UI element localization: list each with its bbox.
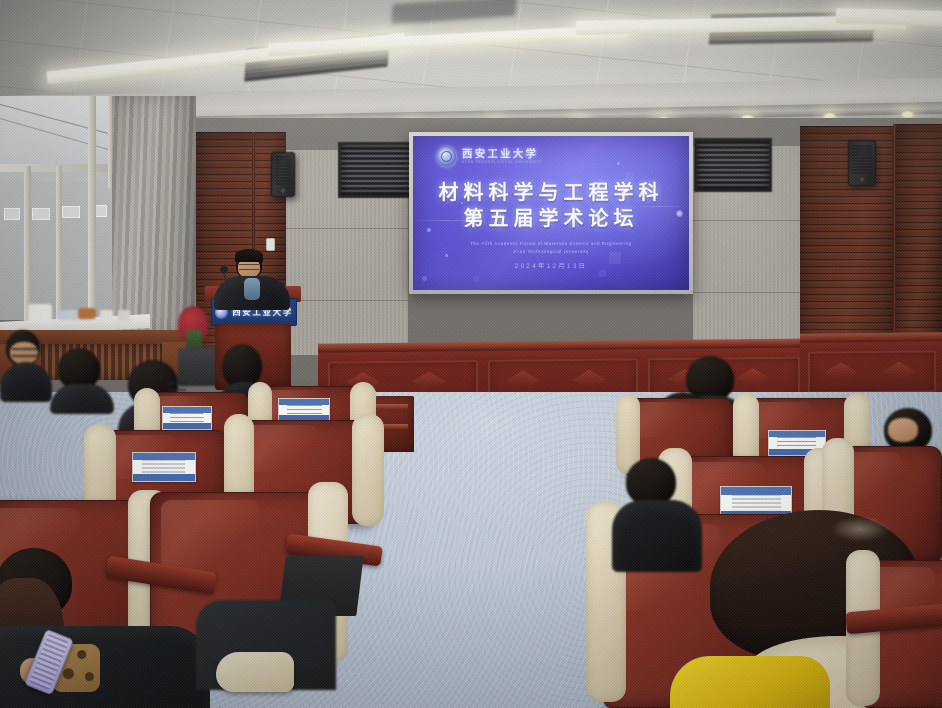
presenter xyxy=(214,250,290,306)
sill-items xyxy=(28,304,52,322)
presenter-hair xyxy=(235,249,263,262)
window-curtain xyxy=(112,96,196,338)
sill-items xyxy=(78,308,96,319)
glasses-icon xyxy=(239,264,259,270)
seat-name-card xyxy=(162,406,212,430)
screen-university-name-cn: 西安工业大学 xyxy=(462,149,543,160)
window-mullion xyxy=(56,166,62,324)
wall-air-vent xyxy=(338,142,416,198)
glasses-icon xyxy=(12,348,38,357)
diamond-ornament xyxy=(572,370,606,390)
wall-air-vent xyxy=(694,138,772,192)
exterior-building-wall xyxy=(0,182,124,320)
diamond-ornament xyxy=(506,370,540,390)
diamond-ornament xyxy=(412,371,446,391)
stage-panel xyxy=(808,350,936,393)
sill-cup xyxy=(100,310,113,322)
wood-panel-divider xyxy=(893,124,896,352)
window-mullion xyxy=(88,96,96,326)
screen-title: 材料科学与工程学科 第五届学术论坛 xyxy=(413,180,689,233)
seat-name-card xyxy=(278,398,330,422)
sill-cup xyxy=(118,310,130,321)
window-mullion xyxy=(24,166,31,324)
projection-screen-frame: 西安工业大学 XI'AN TECHNOLOGICAL UNIVERSITY 材料… xyxy=(409,132,693,294)
projection-screen: 西安工业大学 XI'AN TECHNOLOGICAL UNIVERSITY 材料… xyxy=(413,136,689,290)
yellow-jacket xyxy=(670,656,830,708)
conference-hall-photo: 西安工业大学 XI'AN TECHNOLOGICAL UNIVERSITY 材料… xyxy=(0,0,942,708)
screen-subtitle-en-line1: The Fifth Academic Forum of Materials Sc… xyxy=(413,240,689,248)
screen-title-line2: 第五届学术论坛 xyxy=(413,206,689,232)
shoe xyxy=(216,652,294,692)
window-opening xyxy=(0,170,124,320)
exterior-window xyxy=(62,206,80,218)
screen-university-name-en: XI'AN TECHNOLOGICAL UNIVERSITY xyxy=(462,161,543,164)
stage-front-wainscot xyxy=(800,339,942,398)
audience-member xyxy=(0,330,52,396)
diamond-ornament xyxy=(882,362,916,382)
seat-cushion xyxy=(352,414,384,526)
audience-member xyxy=(50,348,114,408)
hair-highlight xyxy=(830,516,890,542)
glasses-icon xyxy=(168,382,186,391)
audience-member-with-phone xyxy=(0,548,220,708)
screen-date: 2024年12月13日 xyxy=(413,261,689,270)
presenter-shirt xyxy=(244,278,260,300)
screen-university-lockup: 西安工业大学 XI'AN TECHNOLOGICAL UNIVERSITY xyxy=(437,147,543,166)
exterior-window xyxy=(32,208,50,220)
audience-member xyxy=(612,458,702,568)
screen-subtitle-en: The Fifth Academic Forum of Materials Sc… xyxy=(413,240,689,256)
screen-title-line1: 材料科学与工程学科 xyxy=(413,180,689,206)
wood-wall-panel xyxy=(896,124,942,350)
screen-subtitle-en-line2: Xi'an Technological University xyxy=(413,248,689,256)
auditorium-seat[interactable] xyxy=(862,560,942,708)
stage-front-cap xyxy=(800,332,942,342)
exterior-window xyxy=(4,208,20,220)
seat-name-card xyxy=(132,452,196,482)
wall-speaker xyxy=(848,140,876,186)
diamond-ornament xyxy=(824,362,858,382)
university-emblem-icon xyxy=(437,147,456,166)
wall-speaker xyxy=(271,152,295,197)
